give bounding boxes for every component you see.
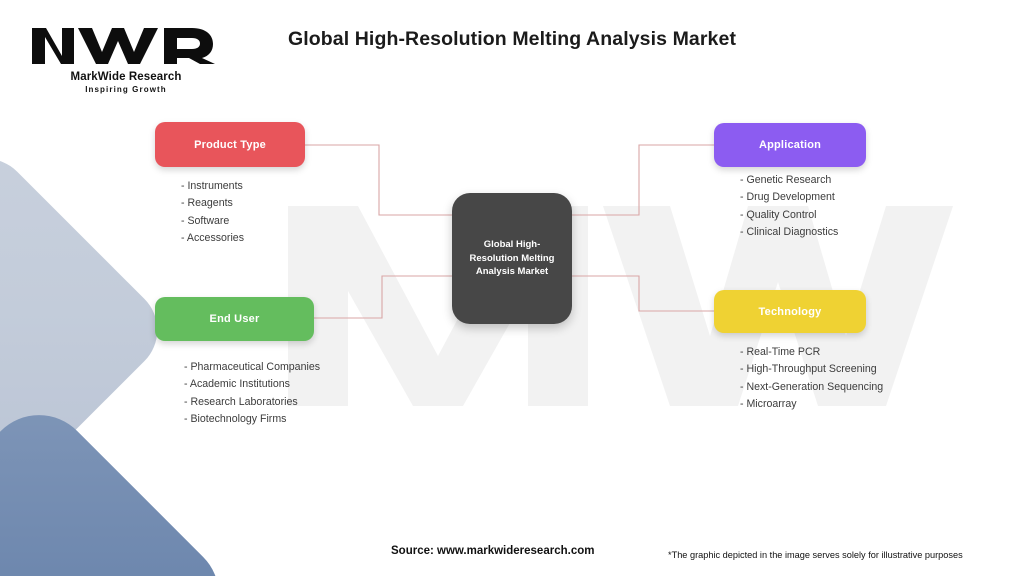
list-item: - Real-Time PCR xyxy=(740,344,883,361)
list-item: - Drug Development xyxy=(740,189,838,206)
node-application-label: Application xyxy=(759,139,821,151)
center-node: Global High-Resolution Melting Analysis … xyxy=(452,193,572,324)
list-item: - Genetic Research xyxy=(740,172,838,189)
items-technology: - Real-Time PCR - High-Throughput Screen… xyxy=(740,344,883,413)
node-technology-label: Technology xyxy=(759,306,822,318)
node-technology[interactable]: Technology xyxy=(714,290,866,333)
list-item: - High-Throughput Screening xyxy=(740,361,883,378)
list-item: - Academic Institutions xyxy=(184,376,320,393)
brand-tagline: Inspiring Growth xyxy=(16,85,236,94)
center-node-label: Global High-Resolution Melting Analysis … xyxy=(461,238,563,279)
infographic-canvas: MarkWide Research Inspiring Growth Globa… xyxy=(0,0,1024,576)
node-product-type-label: Product Type xyxy=(194,139,266,151)
node-end-user-label: End User xyxy=(210,313,260,325)
page-title: Global High-Resolution Melting Analysis … xyxy=(0,28,1024,51)
list-item: - Research Laboratories xyxy=(184,394,320,411)
node-end-user[interactable]: End User xyxy=(155,297,314,341)
disclaimer-label: *The graphic depicted in the image serve… xyxy=(668,550,963,560)
source-label: Source: www.markwideresearch.com xyxy=(391,545,594,557)
items-product-type: - Instruments - Reagents - Software - Ac… xyxy=(181,178,244,247)
list-item: - Accessories xyxy=(181,230,244,247)
node-product-type[interactable]: Product Type xyxy=(155,122,305,167)
items-application: - Genetic Research - Drug Development - … xyxy=(740,172,838,241)
list-item: - Next-Generation Sequencing xyxy=(740,379,883,396)
list-item: - Clinical Diagnostics xyxy=(740,224,838,241)
list-item: - Pharmaceutical Companies xyxy=(184,359,320,376)
brand-name: MarkWide Research xyxy=(16,71,236,83)
list-item: - Reagents xyxy=(181,195,244,212)
list-item: - Biotechnology Firms xyxy=(184,411,320,428)
list-item: - Software xyxy=(181,213,244,230)
connector-application xyxy=(572,145,714,215)
connector-technology xyxy=(572,276,714,311)
connector-end-user xyxy=(314,276,452,318)
decorative-shape-light xyxy=(0,140,176,519)
node-application[interactable]: Application xyxy=(714,123,866,167)
items-end-user: - Pharmaceutical Companies - Academic In… xyxy=(184,359,320,428)
connector-product-type xyxy=(305,145,452,215)
list-item: - Quality Control xyxy=(740,207,838,224)
list-item: - Instruments xyxy=(181,178,244,195)
list-item: - Microarray xyxy=(740,396,883,413)
